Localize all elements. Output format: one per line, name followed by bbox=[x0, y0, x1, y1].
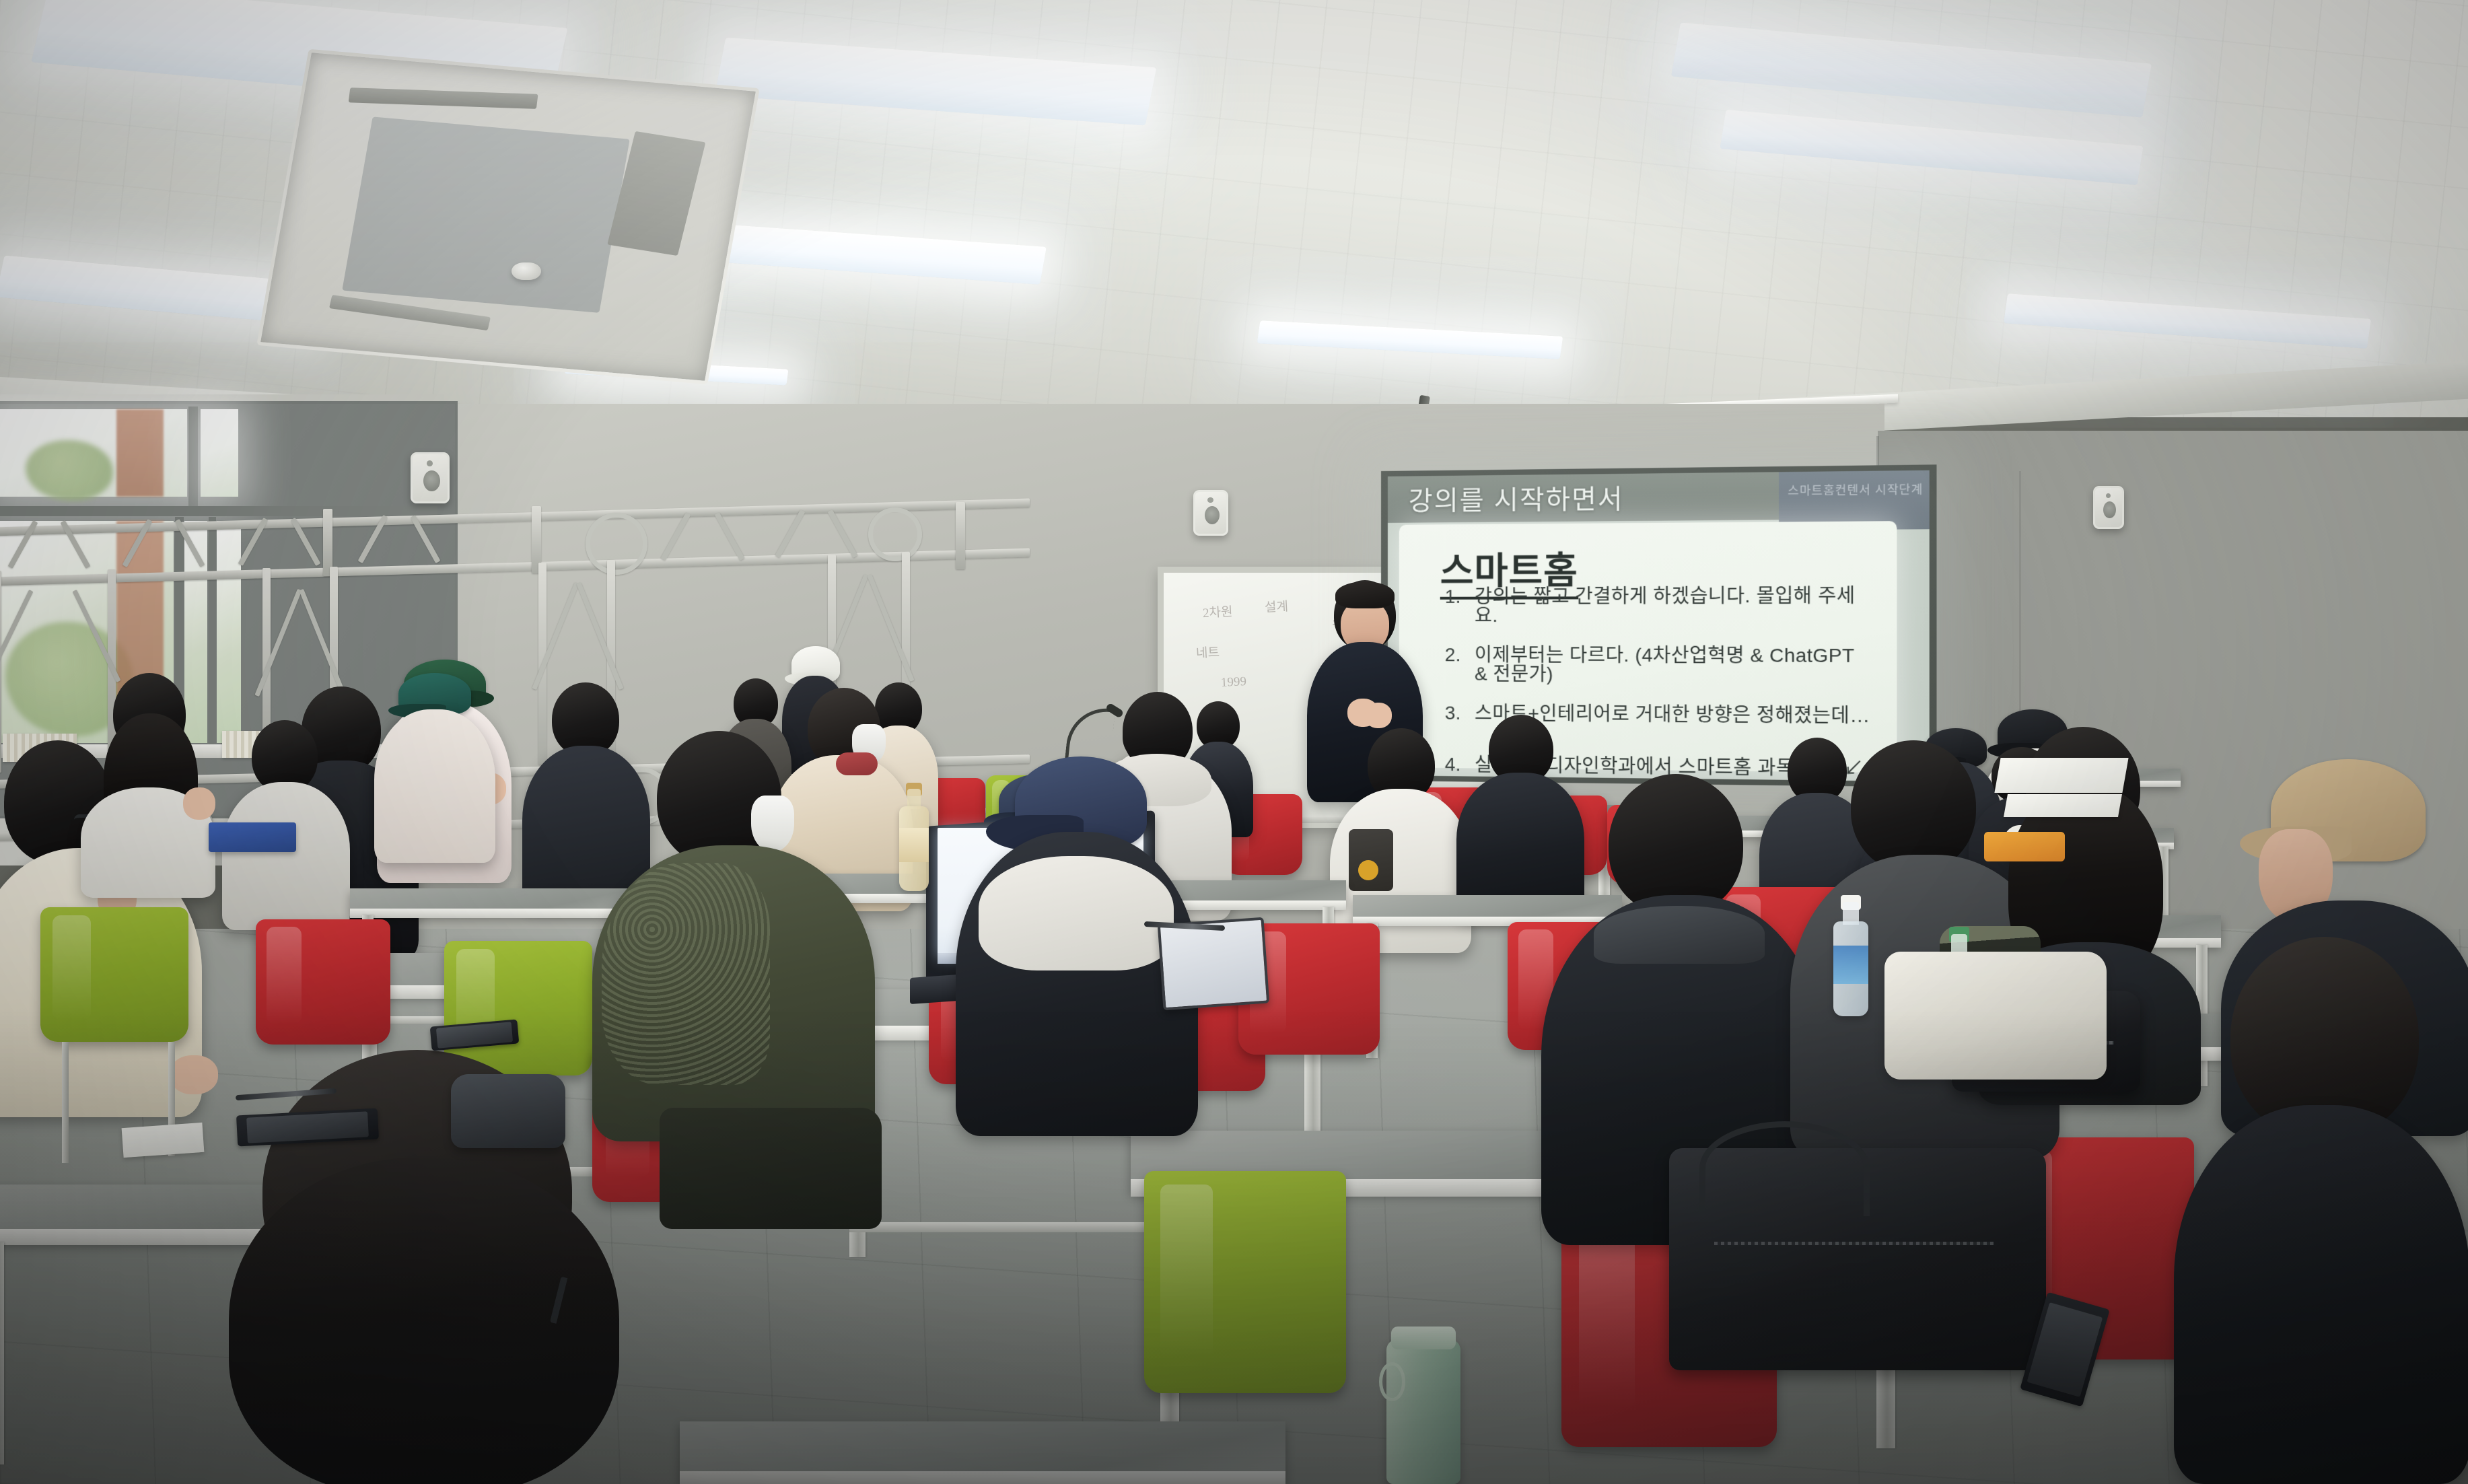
student-head bbox=[1851, 740, 1976, 872]
wall-speaker-left bbox=[411, 452, 450, 503]
water-bottle bbox=[1833, 902, 1868, 1016]
pencil-case bbox=[451, 1074, 565, 1148]
slide-bullet: 1. 강의는 짧고 간결하게 하겠습니다. 몰입해 주세요. bbox=[1445, 586, 1874, 625]
bullet-number: 2. bbox=[1445, 646, 1475, 684]
whiteboard-ink: 네트 bbox=[1195, 642, 1220, 662]
whiteboard-ink: 2차원 bbox=[1202, 602, 1233, 621]
face-mask bbox=[751, 796, 794, 852]
papers bbox=[1994, 758, 2128, 793]
list-item bbox=[374, 673, 495, 861]
student-desk bbox=[350, 888, 633, 915]
backpack bbox=[1669, 1148, 2046, 1370]
draped-jacket bbox=[1884, 952, 2107, 1080]
window-mullion bbox=[188, 407, 198, 507]
window-pane bbox=[0, 409, 187, 497]
student-torso bbox=[374, 709, 495, 863]
whiteboard-ink: 설계 bbox=[1264, 596, 1288, 616]
papers bbox=[122, 1123, 205, 1158]
orange-item bbox=[1984, 832, 2065, 861]
slide-bullet: 2. 이제부터는 다르다. (4차산업혁명 & ChatGPT & 전문가) bbox=[1445, 646, 1874, 686]
presenter-hair-front bbox=[1335, 581, 1395, 608]
slide-corner-note: 스마트홈컨텐서 시작단계 bbox=[1788, 480, 1923, 499]
thermos-tumbler bbox=[1386, 1339, 1460, 1484]
window-pane bbox=[201, 409, 238, 497]
student-torso bbox=[2174, 1105, 2468, 1484]
whiteboard-ink: 1999 bbox=[1220, 674, 1246, 691]
water-bottle bbox=[899, 789, 929, 891]
tablet bbox=[1158, 917, 1270, 1011]
bullet-text: 이제부터는 다르다. (4차산업혁명 & ChatGPT & 전문가) bbox=[1475, 646, 1874, 686]
chair-leg bbox=[62, 1042, 69, 1163]
student-head bbox=[1609, 774, 1743, 915]
wall-speaker-right bbox=[2093, 486, 2124, 529]
smoke-detector bbox=[512, 262, 541, 280]
teal-cap-icon bbox=[398, 673, 471, 715]
lecture-hall-photo: 2차원 설계 스마트 1999 네트 개론 강의를 시작하면서 스마트홈컨텐서 … bbox=[0, 0, 2468, 1484]
hood bbox=[979, 856, 1174, 970]
student-torso bbox=[222, 782, 350, 930]
presenter-hand bbox=[1365, 703, 1392, 728]
green-chair bbox=[40, 907, 188, 1042]
student-in-olive-fleece bbox=[592, 731, 888, 1202]
red-chair bbox=[256, 919, 390, 1045]
student-desk bbox=[680, 1421, 1285, 1484]
jacket-collar bbox=[1594, 906, 1765, 964]
list-item bbox=[2174, 937, 2468, 1484]
bullet-text: 강의는 짧고 간결하게 하겠습니다. 몰입해 주세요. bbox=[1475, 586, 1874, 625]
papers bbox=[2004, 794, 2122, 817]
shirt-graphic-accent bbox=[1358, 860, 1378, 880]
green-chair bbox=[1144, 1171, 1346, 1393]
ceiling-ac-cassette bbox=[256, 49, 760, 385]
wall-speaker-right bbox=[1193, 490, 1228, 536]
slide-header-title: 강의를 시작하면서 bbox=[1409, 478, 1624, 518]
bullet-number: 1. bbox=[1445, 588, 1475, 625]
student-legs bbox=[660, 1108, 882, 1229]
list-item bbox=[81, 673, 215, 895]
blue-folder bbox=[209, 822, 296, 852]
student-hand bbox=[183, 787, 215, 820]
